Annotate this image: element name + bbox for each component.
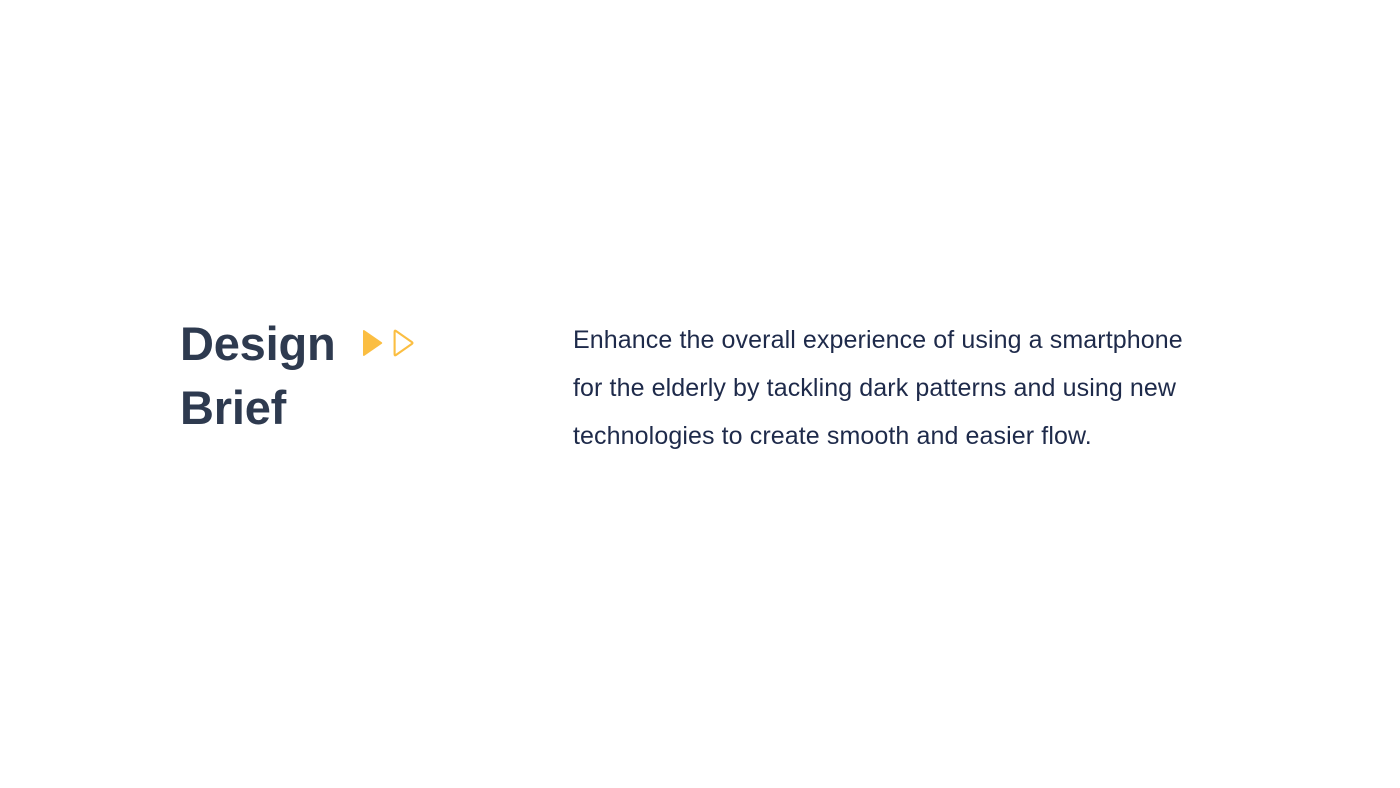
play-triangle-outline-icon	[393, 328, 415, 363]
heading-block: Design Brief	[180, 312, 480, 440]
page-title-line-2: Brief	[180, 376, 286, 440]
heading-row-primary: Design	[180, 312, 480, 376]
description-line-3: technologies to create smooth and easier…	[573, 412, 1253, 460]
design-brief-slide: Design Brief Enhance the overall experie…	[0, 0, 1400, 788]
arrow-indicator-group	[362, 328, 415, 363]
description-block: Enhance the overall experience of using …	[573, 316, 1253, 460]
description-line-2: for the elderly by tackling dark pattern…	[573, 364, 1253, 412]
heading-row-secondary: Brief	[180, 376, 480, 440]
description-line-1: Enhance the overall experience of using …	[573, 316, 1253, 364]
play-triangle-filled-icon	[362, 328, 384, 363]
page-title-line-1: Design	[180, 312, 336, 376]
